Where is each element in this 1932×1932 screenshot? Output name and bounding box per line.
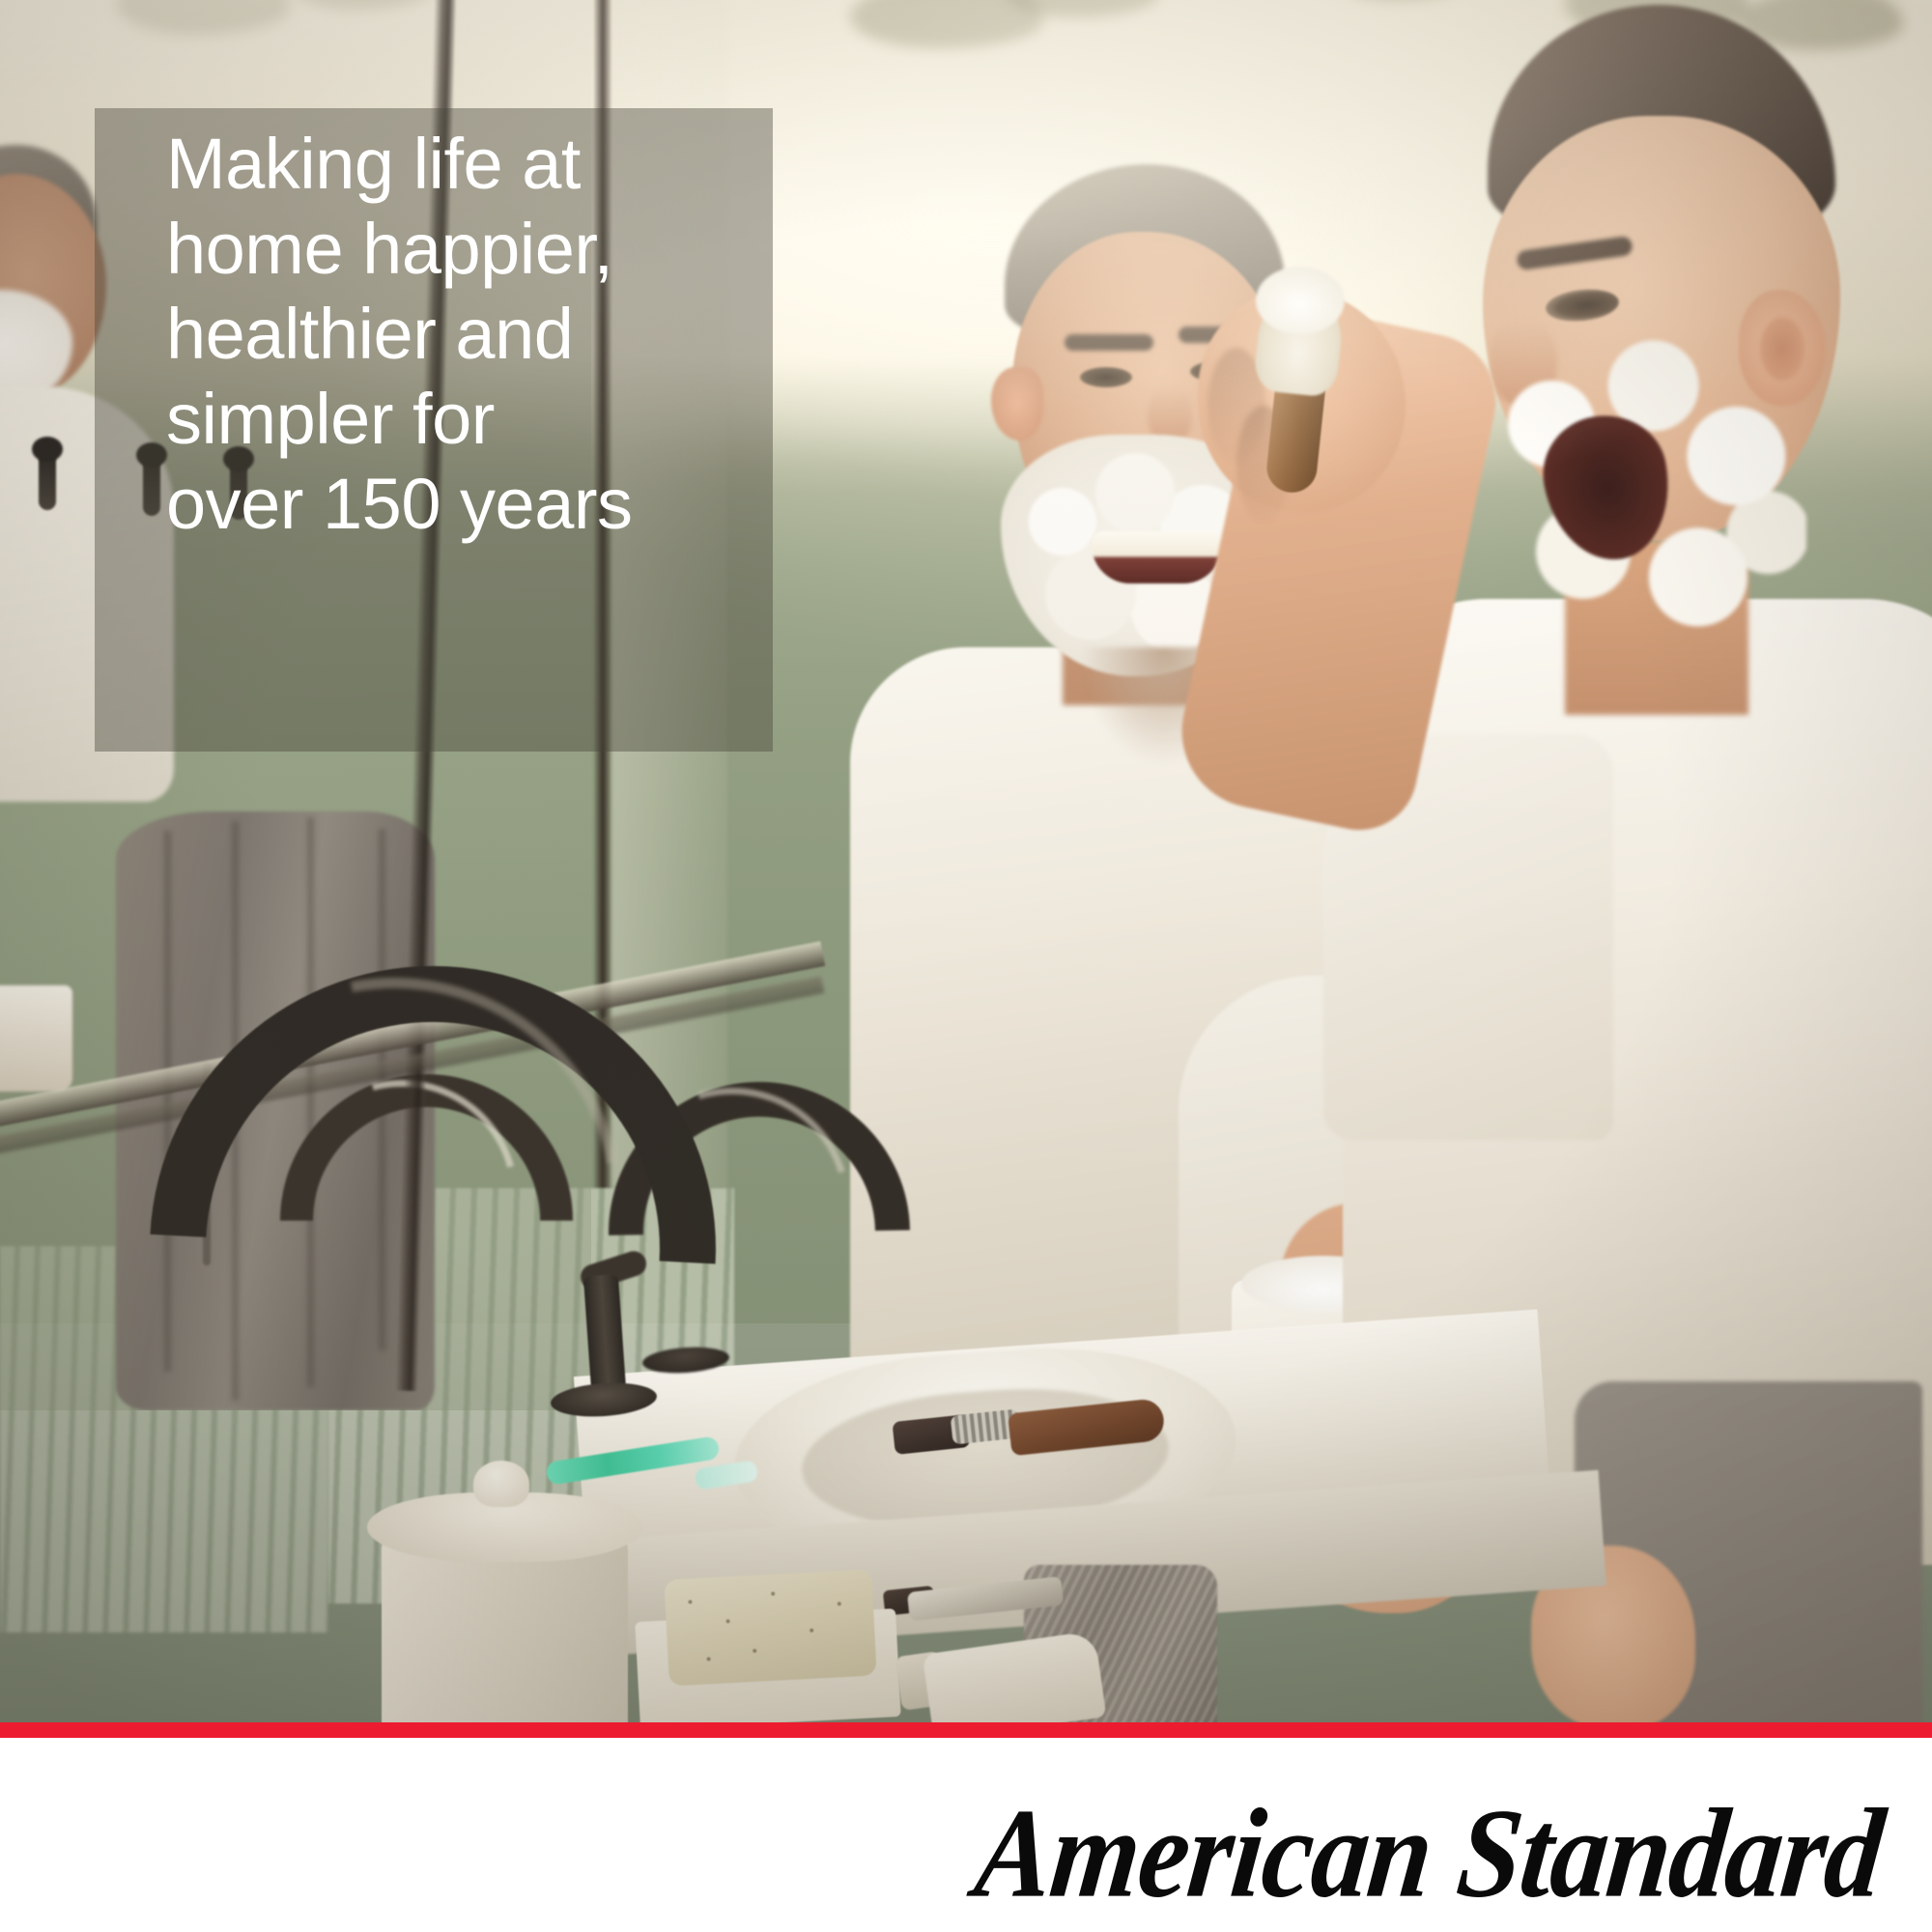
soap-bar: [664, 1569, 876, 1686]
wall-hook-knob-left: [32, 437, 63, 462]
man-eye-left: [1080, 367, 1132, 387]
reflected-cup: [0, 985, 72, 1092]
man-ear: [991, 367, 1043, 440]
headline-text: Making life at home happier, healthier a…: [166, 122, 765, 547]
hero-photograph: Making life at home happier, healthier a…: [0, 0, 1932, 1724]
footer-bar: American Standard: [0, 1738, 1932, 1932]
ceramic-jar: [382, 1536, 628, 1724]
shaving-brush-foam: [1256, 267, 1345, 334]
man-smile: [1092, 531, 1222, 583]
advertisement-canvas: Making life at home happier, healthier a…: [0, 0, 1932, 1932]
brand-accent-rule: [0, 1722, 1932, 1738]
wall-hook-left: [39, 454, 56, 510]
american-standard-logo: American Standard: [969, 1780, 1889, 1927]
